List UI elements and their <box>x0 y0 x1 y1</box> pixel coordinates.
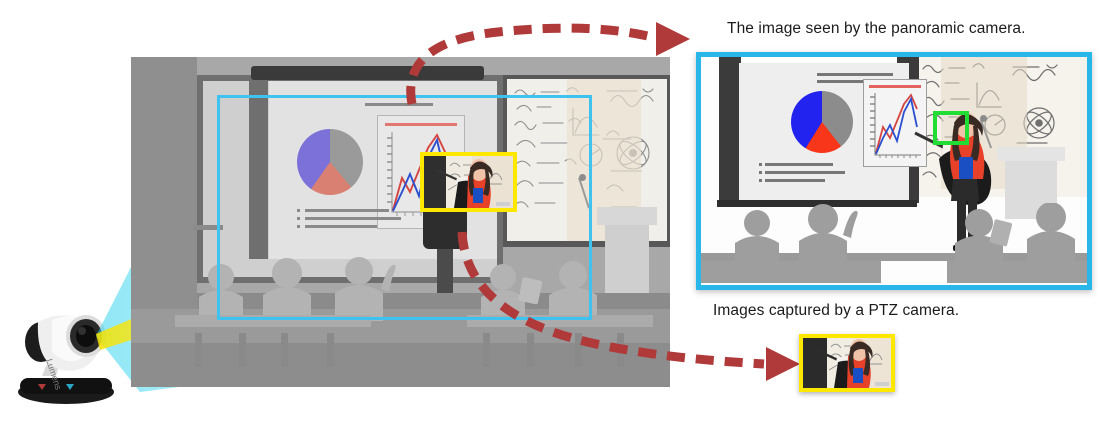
pano-presentation-slide <box>739 63 909 200</box>
ptz-zoom-rect <box>420 152 517 212</box>
pano-line-chart-header <box>869 85 921 88</box>
panoramic-camera-view <box>696 52 1092 290</box>
pano-screen-post-left <box>719 57 741 203</box>
pano-slide-title-bar <box>817 73 893 76</box>
ptz-thumb-content <box>803 338 891 388</box>
panoramic-fov-rect <box>217 95 592 320</box>
ptz-caption: Images captured by a PTZ camera. <box>713 302 959 320</box>
ptz-captured-image <box>799 334 895 392</box>
face-detection-box <box>933 111 969 145</box>
pano-pie-chart <box>791 91 853 153</box>
pano-audience-group <box>701 203 1087 285</box>
panoramic-scene <box>701 57 1087 285</box>
lumens-ptz-camera: Lumens <box>8 300 130 406</box>
ptz-zoom-content <box>424 156 513 208</box>
podium-top <box>597 207 657 225</box>
screen-header-bar <box>251 66 484 80</box>
panoramic-caption: The image seen by the panoramic camera. <box>727 20 1026 38</box>
